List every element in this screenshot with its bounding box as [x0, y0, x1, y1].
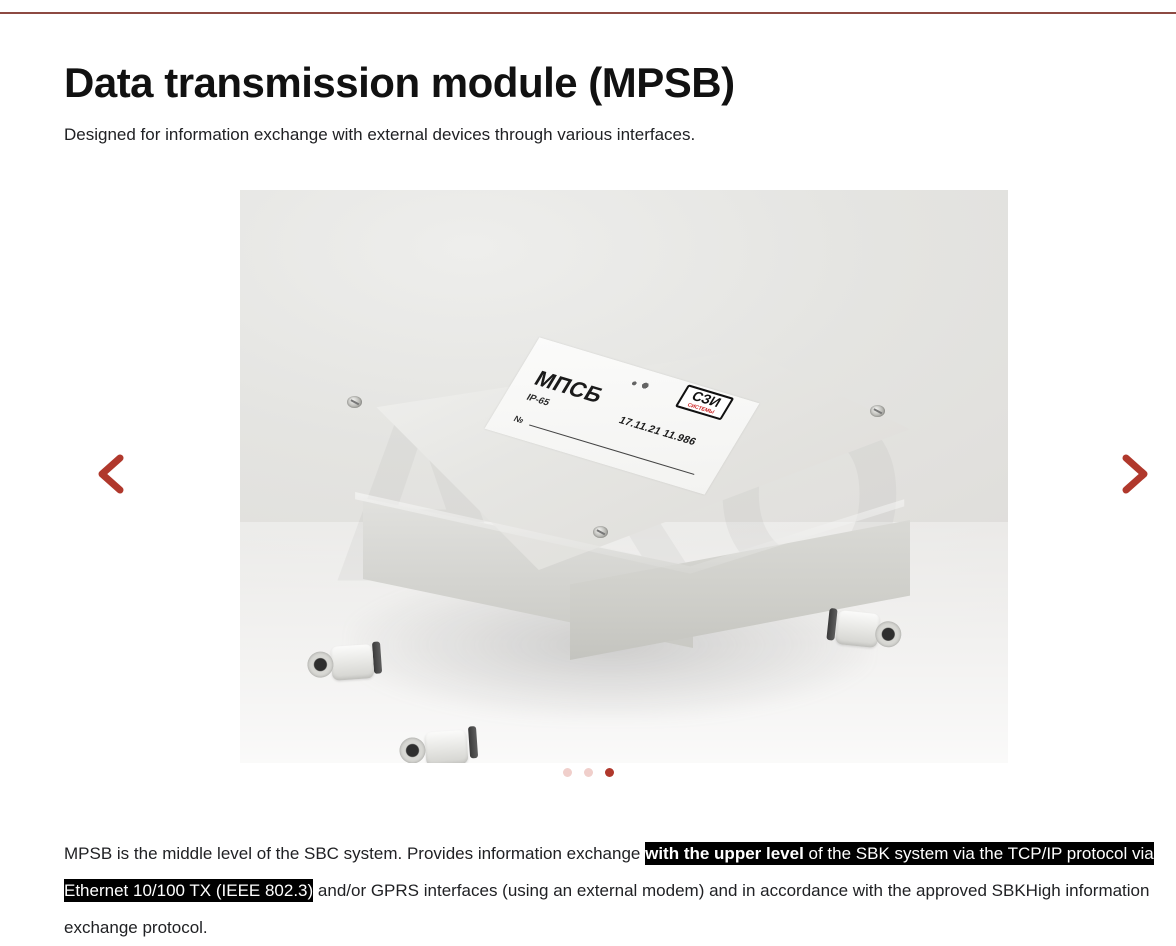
product-description: MPSB is the middle level of the SBC syst…: [64, 835, 1160, 946]
enclosure-screw: [870, 405, 885, 417]
chevron-right-icon: [1106, 446, 1162, 502]
device-enclosure: МПСБ IP-65 № 17.11.21 11.986 СЗИ СИСТЕМЫ: [240, 190, 1008, 763]
carousel-dot-1[interactable]: [563, 768, 572, 777]
carousel-dot-3[interactable]: [605, 768, 614, 777]
carousel-dot-2[interactable]: [584, 768, 593, 777]
label-date-code: 17.11.21 11.986: [616, 415, 698, 448]
product-page: Data transmission module (MPSB) Designed…: [0, 0, 1176, 937]
product-photo: ARO МПСБ IP-65 № 17.11.21 11.986: [240, 190, 1008, 763]
eac-conformity-icon: [622, 372, 658, 397]
description-part-1: MPSB is the middle level of the SBC syst…: [64, 844, 645, 863]
chevron-left-icon: [84, 446, 140, 502]
carousel-prev-button[interactable]: [84, 446, 140, 502]
enclosure-screw: [593, 526, 608, 538]
enclosure-screw: [347, 396, 362, 408]
carousel-next-button[interactable]: [1106, 446, 1162, 502]
selected-bold-text: with the upper level: [645, 844, 804, 863]
carousel-slide[interactable]: ARO МПСБ IP-65 № 17.11.21 11.986: [240, 190, 1008, 763]
carousel-dots: [64, 768, 1112, 777]
image-carousel: ARO МПСБ IP-65 № 17.11.21 11.986: [64, 160, 1112, 790]
label-serial-prefix: №: [512, 414, 526, 425]
page-title: Data transmission module (MPSB): [64, 56, 735, 110]
page-subtitle: Designed for information exchange with e…: [64, 123, 695, 147]
